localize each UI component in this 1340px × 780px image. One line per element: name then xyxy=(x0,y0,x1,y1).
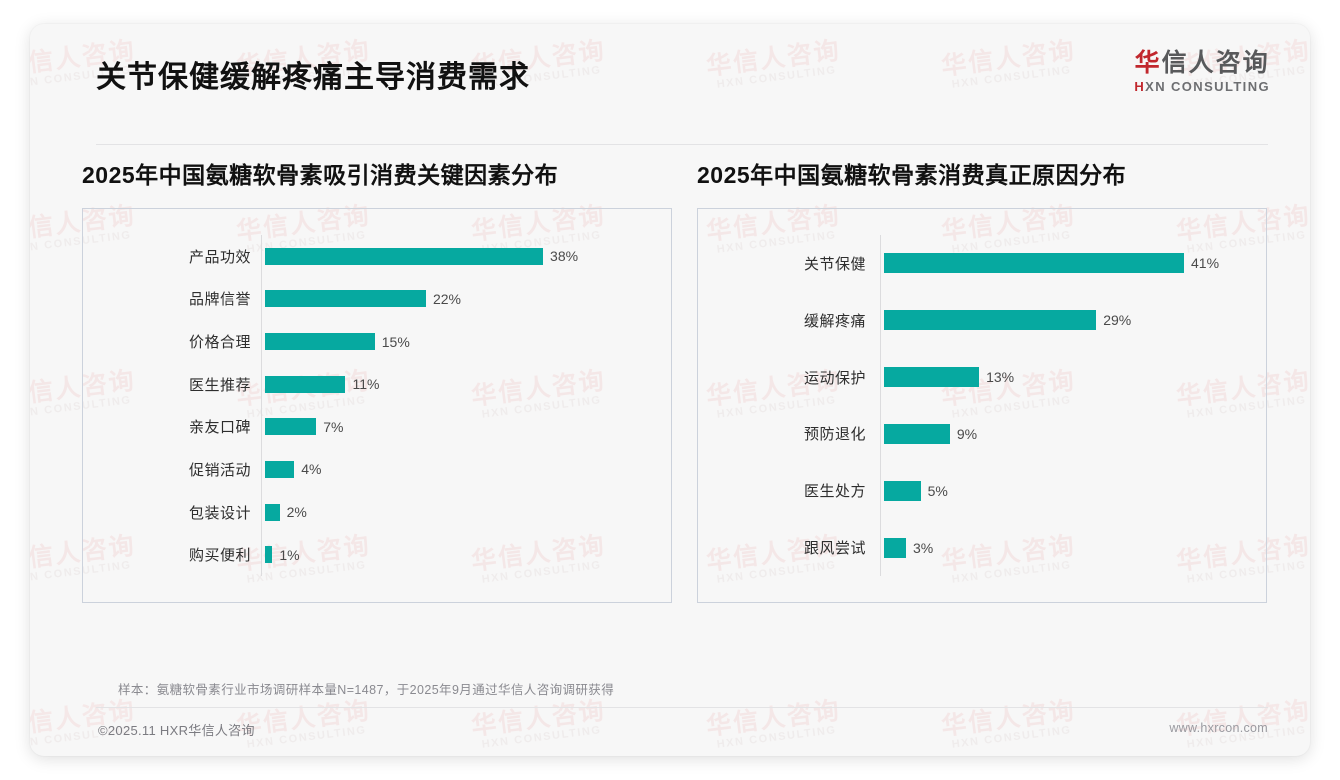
brand-logo: 华信人咨询 HXN CONSULTING xyxy=(1134,50,1270,94)
bar-fill[interactable] xyxy=(884,424,950,444)
bar-value-label: 7% xyxy=(323,419,343,435)
slide-footer: ©2025.11 HXR华信人咨询 www.hxrcon.com xyxy=(30,716,1310,750)
bar-row: 运动保护13% xyxy=(698,349,1250,406)
bar-value-label: 13% xyxy=(986,369,1014,385)
bar-track: 7% xyxy=(261,406,655,449)
bar-row: 包装设计2% xyxy=(83,491,655,534)
logo-char-hua: 华 xyxy=(1135,49,1162,77)
bar-value-label: 15% xyxy=(382,334,410,350)
bar-value-label: 11% xyxy=(352,376,379,392)
chart-panel-left: 产品功效38%品牌信誉22%价格合理15%医生推荐11%亲友口碑7%促销活动4%… xyxy=(82,208,672,603)
bar-category-label: 医生推荐 xyxy=(83,374,261,395)
bar-row: 促销活动4% xyxy=(83,448,655,491)
bar-track: 13% xyxy=(880,349,1250,406)
logo-english-text: HXN CONSULTING xyxy=(1134,79,1270,94)
bar-fill[interactable] xyxy=(265,504,280,521)
bar-row: 购买便利1% xyxy=(83,533,655,576)
bar-track: 9% xyxy=(880,406,1250,463)
bar-category-label: 亲友口碑 xyxy=(83,416,261,437)
bar-track: 2% xyxy=(261,491,655,534)
bar-row: 跟风尝试3% xyxy=(698,519,1250,576)
bar-track: 11% xyxy=(261,363,655,406)
bar-value-label: 3% xyxy=(913,540,933,556)
chart-block-right: 2025年中国氨糖软骨素消费真正原因分布 关节保健41%缓解疼痛29%运动保护1… xyxy=(697,156,1267,603)
logo-chinese-text: 华信人咨询 xyxy=(1134,50,1270,78)
bar-fill[interactable] xyxy=(265,546,272,563)
bar-fill[interactable] xyxy=(265,333,375,350)
logo-en-h: H xyxy=(1134,79,1145,94)
bar-track: 38% xyxy=(261,235,655,278)
bar-row: 医生推荐11% xyxy=(83,363,655,406)
bar-fill[interactable] xyxy=(884,481,921,501)
bar-value-label: 2% xyxy=(287,504,307,520)
bar-fill[interactable] xyxy=(265,418,316,435)
bar-row: 缓解疼痛29% xyxy=(698,292,1250,349)
bar-fill[interactable] xyxy=(884,310,1096,330)
bar-track: 1% xyxy=(261,533,655,576)
bar-category-label: 促销活动 xyxy=(83,459,261,480)
logo-chars-rest: 信人咨询 xyxy=(1162,49,1270,77)
bar-value-label: 38% xyxy=(550,248,578,264)
bar-value-label: 9% xyxy=(957,426,977,442)
bar-track: 4% xyxy=(261,448,655,491)
bar-track: 3% xyxy=(880,519,1250,576)
bar-row: 医生处方5% xyxy=(698,462,1250,519)
bar-value-label: 29% xyxy=(1103,312,1131,328)
bar-value-label: 41% xyxy=(1191,255,1219,271)
logo-en-rest: XN CONSULTING xyxy=(1145,79,1270,94)
bar-fill[interactable] xyxy=(884,253,1184,273)
slide-header: 关节保健缓解疼痛主导消费需求 华信人咨询 HXN CONSULTING xyxy=(30,24,1310,120)
bar-plot-left: 产品功效38%品牌信誉22%价格合理15%医生推荐11%亲友口碑7%促销活动4%… xyxy=(83,209,671,602)
bar-track: 22% xyxy=(261,278,655,321)
bar-category-label: 购买便利 xyxy=(83,544,261,565)
bar-category-label: 运动保护 xyxy=(698,367,880,388)
bar-row: 亲友口碑7% xyxy=(83,406,655,449)
bar-category-label: 医生处方 xyxy=(698,480,880,501)
bar-fill[interactable] xyxy=(884,367,979,387)
chart-title-left: 2025年中国氨糖软骨素吸引消费关键因素分布 xyxy=(82,156,672,190)
slide-card: 华信人咨询HXN CONSULTING华信人咨询HXN CONSULTING华信… xyxy=(30,24,1310,756)
website-link[interactable]: www.hxrcon.com xyxy=(1169,721,1268,735)
bar-track: 29% xyxy=(880,292,1250,349)
bar-value-label: 5% xyxy=(928,483,948,499)
bar-fill[interactable] xyxy=(265,461,294,478)
bar-category-label: 价格合理 xyxy=(83,331,261,352)
bar-fill[interactable] xyxy=(265,248,543,265)
bar-track: 5% xyxy=(880,462,1250,519)
copyright-text: ©2025.11 HXR华信人咨询 xyxy=(98,720,255,739)
chart-title-right: 2025年中国氨糖软骨素消费真正原因分布 xyxy=(697,156,1267,190)
header-divider xyxy=(96,144,1268,145)
bar-fill[interactable] xyxy=(884,538,906,558)
page-title: 关节保健缓解疼痛主导消费需求 xyxy=(96,52,530,96)
bar-fill[interactable] xyxy=(265,376,345,393)
bar-track: 15% xyxy=(261,320,655,363)
bar-category-label: 跟风尝试 xyxy=(698,537,880,558)
bar-track: 41% xyxy=(880,235,1250,292)
bar-value-label: 22% xyxy=(433,291,461,307)
chart-block-left: 2025年中国氨糖软骨素吸引消费关键因素分布 产品功效38%品牌信誉22%价格合… xyxy=(82,156,672,603)
bar-category-label: 产品功效 xyxy=(83,246,261,267)
bar-category-label: 关节保健 xyxy=(698,253,880,274)
bar-fill[interactable] xyxy=(265,290,426,307)
bar-row: 品牌信誉22% xyxy=(83,278,655,321)
bar-category-label: 品牌信誉 xyxy=(83,288,261,309)
footer-divider xyxy=(96,707,1268,708)
bar-row: 价格合理15% xyxy=(83,320,655,363)
bar-value-label: 4% xyxy=(301,461,321,477)
bar-value-label: 1% xyxy=(279,547,299,563)
bar-category-label: 预防退化 xyxy=(698,423,880,444)
sample-footnote: 样本：氨糖软骨素行业市场调研样本量N=1487，于2025年9月通过华信人咨询调… xyxy=(118,679,614,698)
bar-row: 预防退化9% xyxy=(698,406,1250,463)
chart-panel-right: 关节保健41%缓解疼痛29%运动保护13%预防退化9%医生处方5%跟风尝试3% xyxy=(697,208,1267,603)
bar-row: 产品功效38% xyxy=(83,235,655,278)
bar-row: 关节保健41% xyxy=(698,235,1250,292)
bar-category-label: 包装设计 xyxy=(83,502,261,523)
bar-plot-right: 关节保健41%缓解疼痛29%运动保护13%预防退化9%医生处方5%跟风尝试3% xyxy=(698,209,1266,602)
bar-category-label: 缓解疼痛 xyxy=(698,310,880,331)
